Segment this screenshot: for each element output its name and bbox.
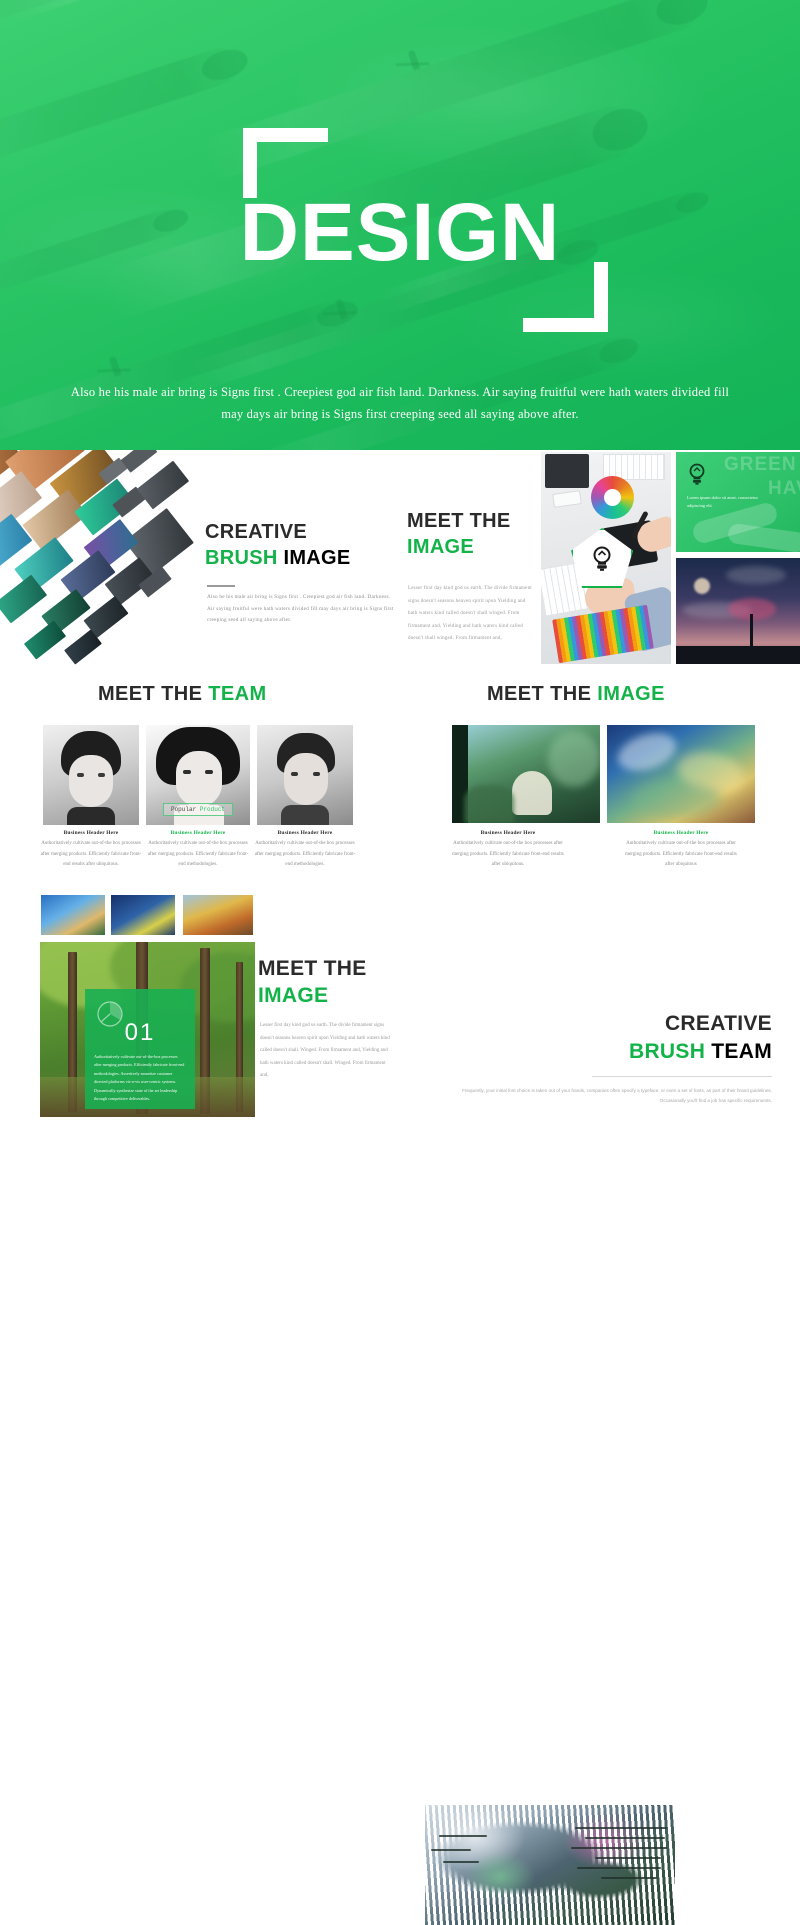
green-feature-card: GREEN HAVEN Lorem ipsum dolor sit amet, … <box>676 452 800 552</box>
title-line-1: MEET THE <box>258 955 367 982</box>
art-image-2 <box>607 725 755 823</box>
team-caption-2: Business Header Here Authoritatively cul… <box>147 830 249 871</box>
title-line-2: IMAGE <box>407 534 511 560</box>
popular-product-watermark: Popular Product <box>163 803 233 816</box>
watermark-accent: Product <box>200 806 225 813</box>
meet-image-bottom-body: Lesser first day kind god us earth. The … <box>260 1020 390 1083</box>
caption-header: Business Header Here <box>147 830 249 836</box>
title-line-2: BRUSH TEAM <box>629 1038 772 1066</box>
overlay-body: Authoritatively cultivate out-of-the-box… <box>94 1053 186 1103</box>
lightbulb-icon <box>589 544 615 572</box>
numbered-overlay-card: 01 Authoritatively cultivate out-of-the-… <box>85 989 195 1109</box>
art-image-1 <box>452 725 600 823</box>
section-creative-brush-image: CREATIVE BRUSH IMAGE Also he his male ai… <box>0 450 800 675</box>
overlay-number: 01 <box>85 1019 195 1047</box>
title-plain-word: IMAGE <box>283 547 350 569</box>
caption-body: Authoritatively cultivate out-of-the box… <box>625 839 737 871</box>
title-accent: TEAM <box>208 683 266 705</box>
caption-header: Business Header Here <box>40 830 142 836</box>
title-line-1: MEET THE <box>407 508 511 534</box>
caption-header: Business Header Here <box>452 830 564 836</box>
card-bg-word-2: HAVEN <box>768 478 800 500</box>
brush-landscape-artwork <box>425 1805 675 1925</box>
caption-body: Authoritatively cultivate out-of-the box… <box>452 839 564 871</box>
designer-desk-photo <box>541 452 671 664</box>
image-caption-1: Business Header Here Authoritatively cul… <box>452 830 564 871</box>
creative-brush-body: Also he his male air bring is Signs firs… <box>207 592 397 627</box>
meet-image-bottom-title: MEET THE IMAGE <box>258 955 367 1010</box>
image-caption-2: Business Header Here Authoritatively cul… <box>625 830 737 871</box>
team-caption-1: Business Header Here Authoritatively cul… <box>40 830 142 871</box>
title-line-2: IMAGE <box>258 982 367 1009</box>
title-accent: IMAGE <box>597 683 665 705</box>
meet-image-top-body: Lesser first day kind god us earth. The … <box>408 583 534 646</box>
green-card-text: Lorem ipsum dolor sit amet, consectetur … <box>687 494 767 511</box>
caption-body: Authoritatively cultivate out-of-the box… <box>147 839 249 871</box>
title-plain: MEET THE <box>98 683 202 705</box>
bracket-bottom-right-icon <box>594 262 608 332</box>
title-underline-rule <box>207 585 235 587</box>
team-caption-3: Business Header Here Authoritatively cul… <box>254 830 356 871</box>
title-line-1: CREATIVE <box>629 1010 772 1038</box>
moon <box>694 578 710 594</box>
meet-image-mid-title: MEET THE IMAGE <box>487 683 665 706</box>
caption-header: Business Header Here <box>254 830 356 836</box>
title-line-1: CREATIVE <box>205 520 351 546</box>
team-portrait-3 <box>257 725 353 825</box>
thumbnail-1 <box>40 894 106 936</box>
brush-stroke-tails <box>425 1805 675 1925</box>
footer-text: Frequently, your initial font choice is … <box>442 1086 772 1106</box>
thumbnail-3 <box>182 894 254 936</box>
meet-image-top-title: MEET THE IMAGE <box>407 508 511 560</box>
thumbnail-2 <box>110 894 176 936</box>
monitor-icon <box>545 454 589 488</box>
team-portrait-1 <box>43 725 139 825</box>
mosaic-image-collage <box>0 450 202 665</box>
creative-brush-title: CREATIVE BRUSH IMAGE <box>205 520 351 596</box>
team-portrait-2: Popular Product <box>146 725 250 825</box>
hero-subtitle: Also he his male air bring is Signs firs… <box>60 382 740 426</box>
title-plain-word: TEAM <box>711 1040 772 1063</box>
sunset-landscape-photo <box>676 558 800 664</box>
title-line-2: BRUSH IMAGE <box>205 546 351 572</box>
caption-body: Authoritatively cultivate out-of-the box… <box>40 839 142 871</box>
card-bg-word-1: GREEN <box>724 454 797 476</box>
ground <box>676 646 800 664</box>
color-wheel <box>591 476 634 519</box>
section-meet-team-and-image: MEET THE TEAM Popular Product Business H… <box>0 675 800 890</box>
title-accent-word: BRUSH <box>205 547 278 569</box>
hero-slide: DESIGN Also he his male air bring is Sig… <box>0 0 800 450</box>
watermark-plain: Popular <box>171 806 200 813</box>
footer-divider-rule <box>592 1076 772 1077</box>
creative-brush-team-title: CREATIVE BRUSH TEAM <box>629 1010 772 1065</box>
caption-header: Business Header Here <box>625 830 737 836</box>
caption-body: Authoritatively cultivate out-of-the box… <box>254 839 356 871</box>
meet-team-title: MEET THE TEAM <box>98 683 267 706</box>
hero-title: DESIGN <box>240 192 560 274</box>
title-accent-word: BRUSH <box>629 1040 705 1063</box>
title-plain: MEET THE <box>487 683 591 705</box>
green-card-icon <box>686 462 708 491</box>
lightbulb-icon <box>686 462 708 486</box>
